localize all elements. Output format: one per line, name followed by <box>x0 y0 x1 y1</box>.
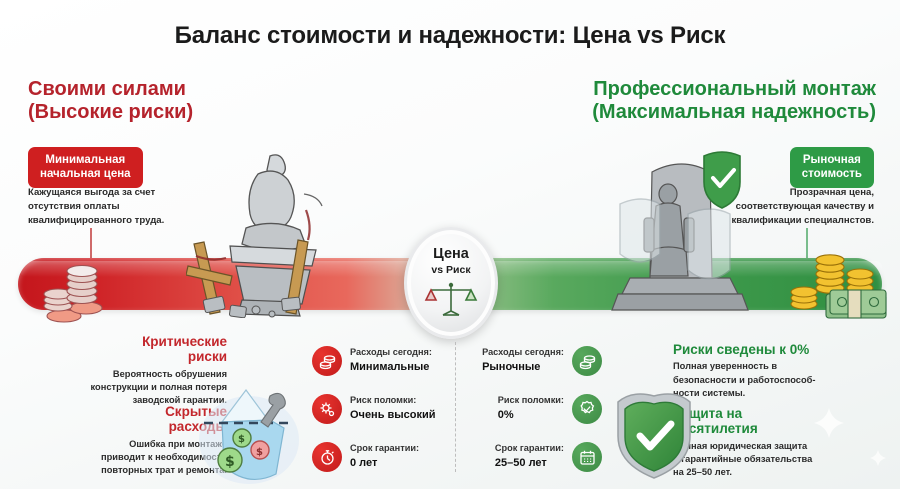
comparison-row: Срок гарантии: 0 лет Срок гарантии: 25–5… <box>312 436 602 478</box>
hidden-costs-heading: Скрытые расходы <box>12 404 227 435</box>
row-left-diy: Расходы сегодня: Минимальные <box>312 346 457 376</box>
comparison-row: Расходы сегодня: Минимальные Расходы сег… <box>312 340 602 382</box>
right-column-heading: Профессиональный монтаж (Максимальная на… <box>592 78 876 124</box>
balance-scales-icon <box>423 281 479 326</box>
shield-check-badge <box>704 152 740 208</box>
comparison-row: Риск поломки: Очень высокий Риск поломки… <box>312 388 602 430</box>
zero-risk-text: Полная уверенность в безопасности и рабо… <box>673 360 888 400</box>
row-label-text: Расходы сегодня: <box>350 347 432 357</box>
row-left-diy: Риск поломки: Очень высокий <box>312 394 457 424</box>
row-label-text: Срок гарантии: <box>495 443 564 453</box>
protected-statue-icon <box>604 146 756 323</box>
row-right-pro: Срок гарантии: 25–50 лет <box>457 442 602 472</box>
comparison-divider <box>455 342 456 472</box>
hidden-costs-text: Ошибка при монтаже приводит к необходимо… <box>12 438 227 478</box>
zero-risk-heading: Риски сведены к 0% <box>673 342 888 357</box>
hidden-costs-block: Скрытые расходы Ошибка при монтаже приво… <box>12 404 227 477</box>
critical-risks-block: Критические риски Вероятность обрушения … <box>12 334 227 407</box>
row-left-value: 0 лет <box>350 456 419 470</box>
gears-icon <box>312 394 342 424</box>
row-right-pro: Риск поломки: 0% <box>457 394 602 424</box>
svg-text:$: $ <box>225 454 235 470</box>
row-label: Риск поломки: Очень высокий <box>350 395 436 422</box>
gauge-title-line2: vs Риск <box>431 264 470 276</box>
coins-icon <box>572 346 602 376</box>
critical-risks-heading: Критические риски <box>12 334 227 365</box>
collapsing-statue-icon <box>186 148 364 323</box>
svg-text:$: $ <box>256 447 263 458</box>
row-label: Срок гарантии: 25–50 лет <box>495 443 564 470</box>
row-left-value: Очень высокий <box>350 408 436 422</box>
left-column-heading: Своими силами (Высокие риски) <box>28 78 193 124</box>
row-label-text: Расходы сегодня: <box>482 347 564 357</box>
gold-coins-cash-icon <box>786 248 892 327</box>
sparkle-icon <box>870 450 886 471</box>
comparison-table: Расходы сегодня: Минимальные Расходы сег… <box>312 340 602 484</box>
row-right-value: 25–50 лет <box>495 456 564 470</box>
page-title: Баланс стоимости и надежности: Цена vs Р… <box>0 22 900 50</box>
iceberg-hidden-costs-icon: $$ $ <box>196 380 302 489</box>
row-right-pro: Расходы сегодня: Рыночные <box>457 346 602 376</box>
row-label-text: Риск поломки: <box>498 395 564 405</box>
coins-icon <box>312 346 342 376</box>
min-price-badge: Минимальная начальная цена <box>28 147 143 188</box>
row-right-value: 0% <box>498 408 564 422</box>
row-label: Расходы сегодня: Рыночные <box>482 347 564 374</box>
infographic-canvas: Баланс стоимости и надежности: Цена vs Р… <box>0 0 900 489</box>
green-shield-check-icon <box>614 392 694 487</box>
critical-risks-text: Вероятность обрушения конструкции и полн… <box>12 368 227 408</box>
svg-text:$: $ <box>238 434 245 445</box>
decades-protection-heading: Защита на десятилетия <box>673 406 888 437</box>
calendar-icon <box>572 442 602 472</box>
row-left-value: Минимальные <box>350 360 432 374</box>
row-label-text: Риск поломки: <box>350 395 416 405</box>
left-badge-connector <box>90 228 92 258</box>
zero-risk-block: Риски сведены к 0% Полная уверенность в … <box>673 342 888 400</box>
sparkle-icon <box>814 408 844 443</box>
price-vs-risk-gauge: Цена vs Риск <box>404 227 498 339</box>
row-left-diy: Срок гарантии: 0 лет <box>312 442 457 472</box>
row-label: Риск поломки: 0% <box>498 395 564 422</box>
check-badge-icon <box>572 394 602 424</box>
row-label: Срок гарантии: 0 лет <box>350 443 419 470</box>
row-right-value: Рыночные <box>482 360 564 374</box>
row-label-text: Срок гарантии: <box>350 443 419 453</box>
stopwatch-icon <box>312 442 342 472</box>
decades-protection-block: Защита на десятилетия Полная юридическая… <box>673 406 888 479</box>
gauge-title-line1: Цена <box>433 247 469 262</box>
red-coin-stack-icon <box>34 262 120 329</box>
row-label: Расходы сегодня: Минимальные <box>350 347 432 374</box>
decades-protection-text: Полная юридическая защита и гарантийные … <box>673 440 888 480</box>
market-price-badge: Рыночная стоимость <box>790 147 874 188</box>
